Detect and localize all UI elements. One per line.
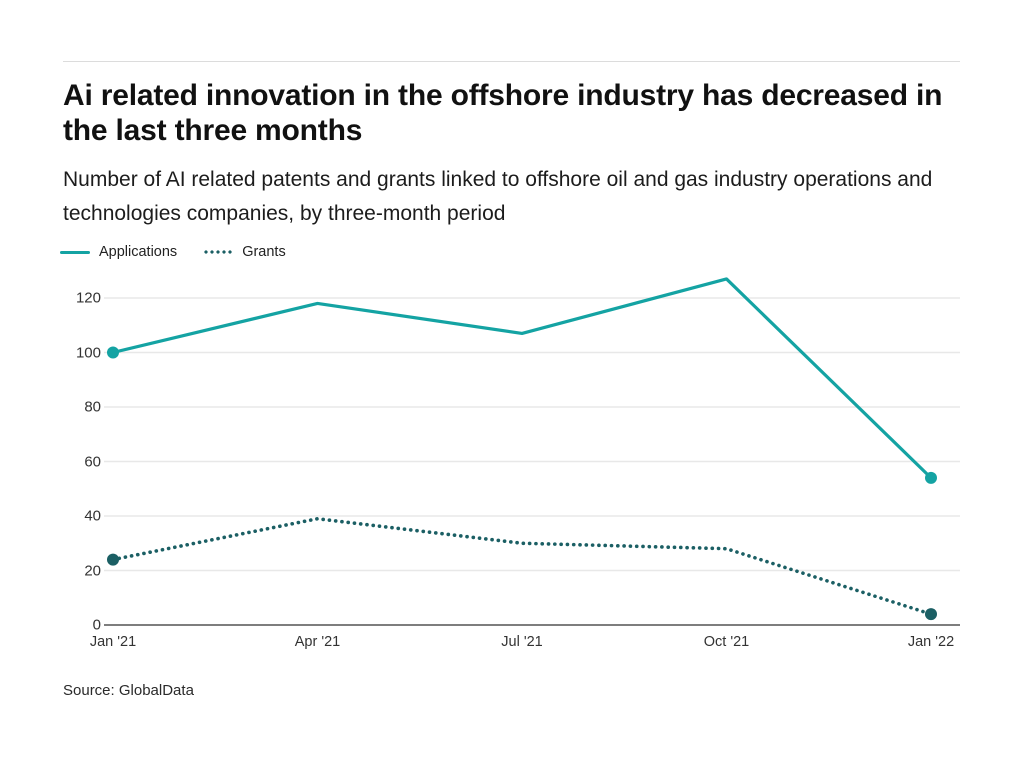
x-axis-tick-label: Jan '22 [908, 634, 954, 650]
x-axis-tick-label: Apr '21 [295, 634, 341, 650]
y-axis-tick-label: 0 [55, 617, 101, 634]
gridlines-group [104, 298, 960, 571]
y-axis-tick-label: 40 [55, 508, 101, 525]
source-note: Source: GlobalData [63, 682, 194, 699]
data-point-marker[interactable] [107, 347, 119, 359]
data-point-marker[interactable] [107, 554, 119, 566]
x-axis-ticks: Jan '21Apr '21Jul '21Oct '21Jan '22 [0, 634, 1024, 658]
y-axis-tick-label: 100 [55, 344, 101, 361]
x-axis-tick-label: Jul '21 [501, 634, 542, 650]
y-axis-tick-label: 80 [55, 399, 101, 416]
data-point-marker[interactable] [925, 608, 937, 620]
y-axis-tick-label: 20 [55, 562, 101, 579]
series-line-grants [113, 519, 931, 614]
series-line-applications [113, 279, 931, 478]
chart-page: Ai related innovation in the offshore in… [0, 0, 1024, 768]
x-axis-tick-label: Jan '21 [90, 634, 136, 650]
x-axis-tick-label: Oct '21 [704, 634, 749, 650]
series-group [107, 279, 937, 620]
y-axis-tick-label: 120 [55, 290, 101, 307]
data-point-marker[interactable] [925, 472, 937, 484]
y-axis-tick-label: 60 [55, 453, 101, 470]
